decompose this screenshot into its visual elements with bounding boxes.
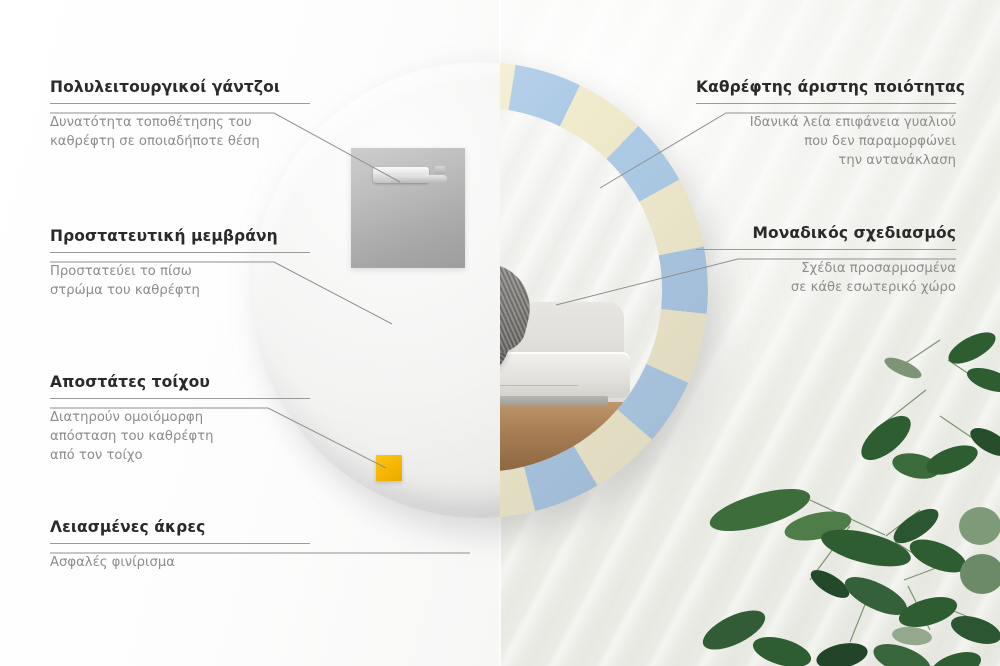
hanging-hook-bar-icon bbox=[391, 175, 447, 183]
callout-design-desc: Σχέδια προσαρμοσμένα σε κάθε εσωτερικό χ… bbox=[696, 259, 956, 297]
callout-design-title: Μοναδικός σχεδιασμός bbox=[696, 224, 956, 242]
callout-hooks-desc: Δυνατότητα τοποθέτησης του καθρέφτη σε ο… bbox=[50, 113, 310, 151]
callout-hooks: Πολυλειτουργικοί γάντζοι Δυνατότητα τοπο… bbox=[50, 78, 310, 151]
callout-quality-title: Καθρέφτης άριστης ποιότητας bbox=[696, 78, 956, 96]
protective-membrane-plate bbox=[351, 148, 465, 268]
callout-spacers-title: Αποστάτες τοίχου bbox=[50, 373, 310, 391]
callout-edges-title: Λειασμένες άκρες bbox=[50, 518, 310, 536]
callout-quality-desc: Ιδανικά λεία επιφάνεια γυαλιού που δεν π… bbox=[696, 113, 956, 170]
callout-design-rule bbox=[696, 249, 956, 250]
callout-spacers-desc: Διατηρούν ομοιόμορφη απόσταση του καθρέφ… bbox=[50, 408, 310, 465]
callout-spacers-rule bbox=[50, 398, 310, 399]
hanging-hook-screw-icon bbox=[435, 166, 445, 174]
callout-membrane: Προστατευτική μεμβράνη Προστατεύει το πί… bbox=[50, 227, 310, 300]
mirror-body bbox=[252, 62, 708, 518]
mirror-product bbox=[252, 62, 708, 518]
callout-membrane-title: Προστατευτική μεμβράνη bbox=[50, 227, 310, 245]
callout-quality: Καθρέφτης άριστης ποιότητας Ιδανικά λεία… bbox=[696, 78, 956, 170]
wall-spacer-pad bbox=[376, 455, 402, 481]
infographic-stage: Πολυλειτουργικοί γάντζοι Δυνατότητα τοπο… bbox=[0, 0, 1000, 666]
callout-edges-desc: Ασφαλές φινίρισμα bbox=[50, 553, 310, 572]
callout-design: Μοναδικός σχεδιασμός Σχέδια προσαρμοσμέν… bbox=[696, 224, 956, 297]
callout-quality-rule bbox=[696, 103, 956, 104]
callout-hooks-rule bbox=[50, 103, 310, 104]
decorative-plant bbox=[690, 330, 1000, 666]
callout-membrane-desc: Προστατεύει το πίσω στρώμα του καθρέφτη bbox=[50, 262, 310, 300]
plant-leaves-icon bbox=[690, 330, 1000, 666]
callout-edges: Λειασμένες άκρες Ασφαλές φινίρισμα bbox=[50, 518, 310, 572]
callout-edges-rule bbox=[50, 543, 310, 544]
callout-spacers: Αποστάτες τοίχου Διατηρούν ομοιόμορφη απ… bbox=[50, 373, 310, 465]
callout-membrane-rule bbox=[50, 252, 310, 253]
callout-hooks-title: Πολυλειτουργικοί γάντζοι bbox=[50, 78, 310, 96]
